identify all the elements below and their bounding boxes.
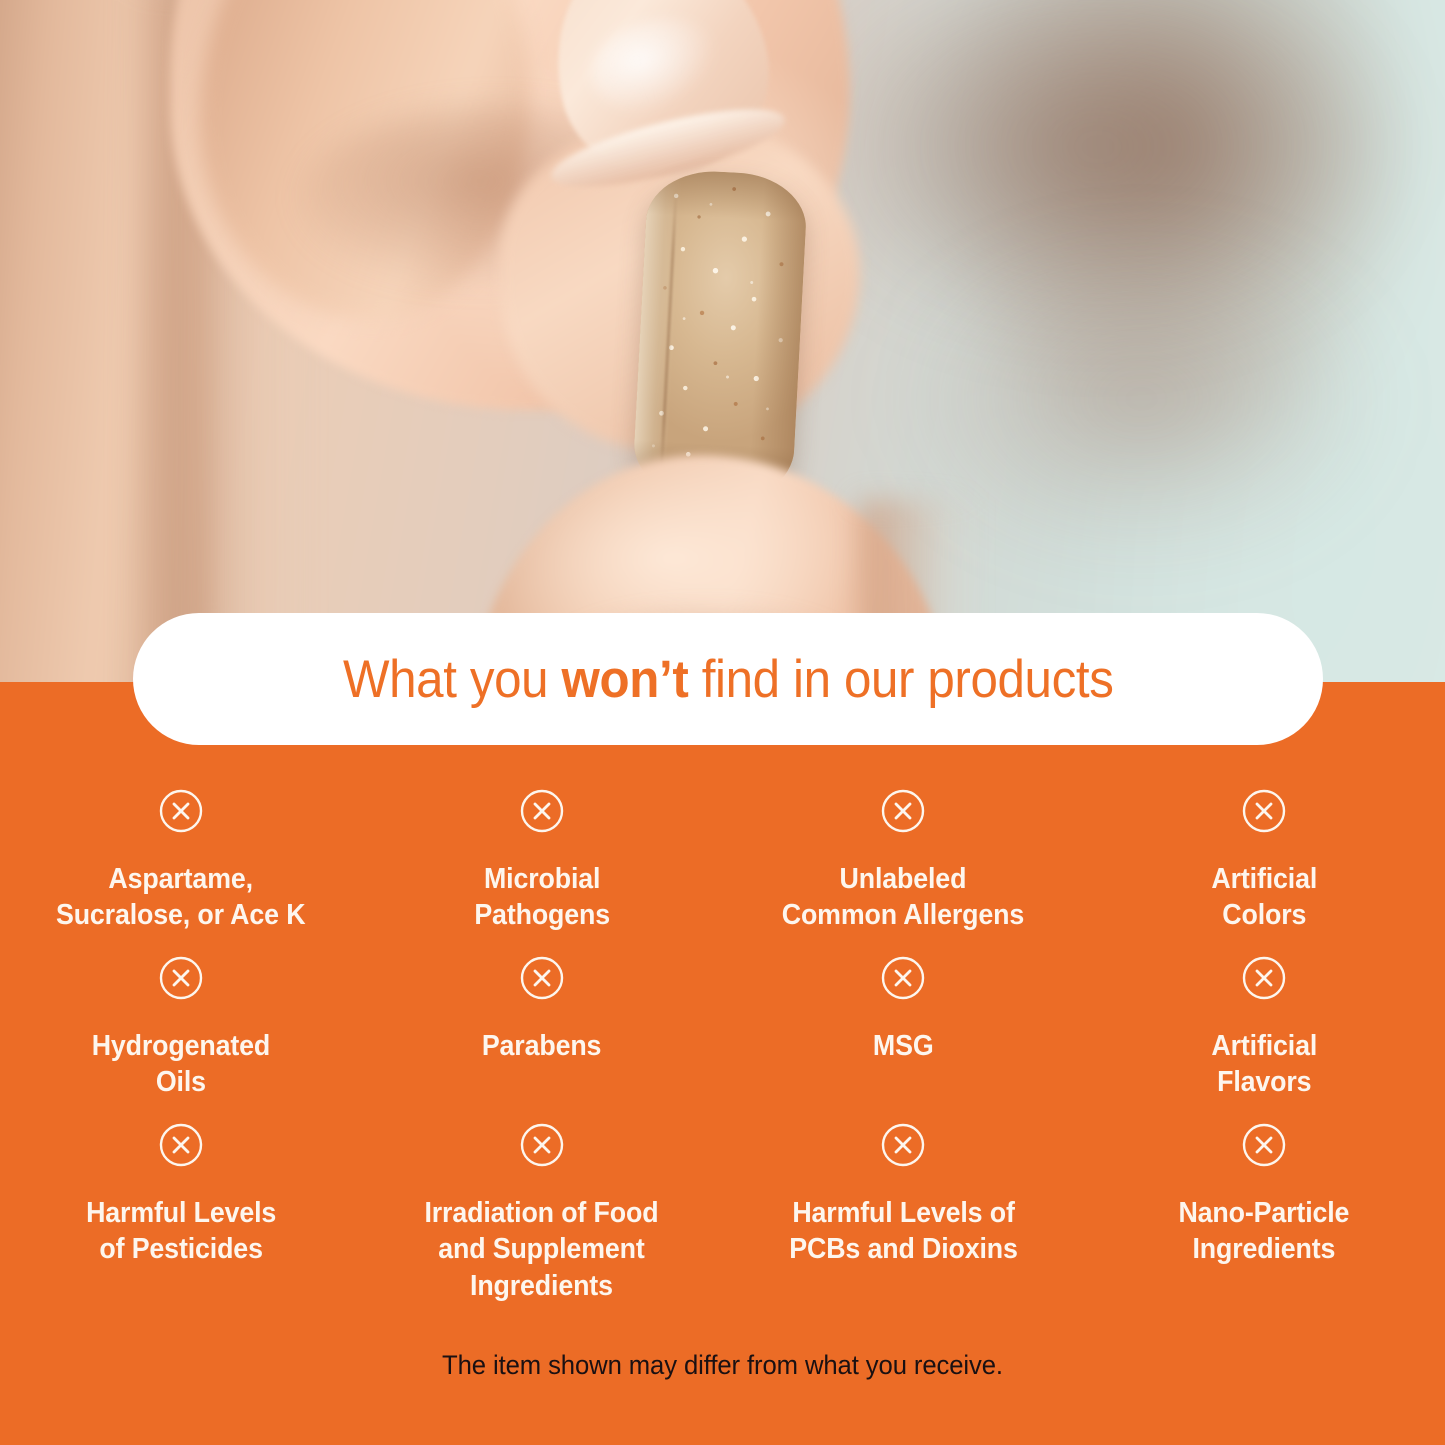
heading-pill: What you won’t find in our products xyxy=(133,613,1323,745)
circle-x-icon xyxy=(518,787,566,835)
exclusion-label-line: Oils xyxy=(156,1066,206,1098)
circle-x-icon xyxy=(879,787,927,835)
exclusion-label: MicrobialPathogens xyxy=(474,861,610,934)
exclusion-label-line: Microbial xyxy=(484,863,600,895)
page-title: What you won’t find in our products xyxy=(343,653,1113,706)
page-title-part2: find in our products xyxy=(688,650,1113,709)
exclusion-label-line: Colors xyxy=(1222,899,1306,931)
exclusion-label: ArtificialFlavors xyxy=(1211,1028,1317,1101)
exclusion-item-nano-particle: Nano-ParticleIngredients xyxy=(1084,1121,1445,1311)
circle-x-icon xyxy=(518,1121,566,1169)
exclusion-item-msg: MSG xyxy=(723,954,1084,1121)
circle-x-icon xyxy=(1240,954,1288,1002)
exclusion-label-line: Nano-Particle xyxy=(1179,1197,1350,1229)
exclusion-label: Harmful Levelsof Pesticides xyxy=(86,1195,276,1268)
exclusion-item-hydrogenated: HydrogenatedOils xyxy=(0,954,361,1121)
product-photo xyxy=(0,0,1445,700)
exclusion-label: Parabens xyxy=(482,1028,601,1064)
exclusion-label-line: and Supplement xyxy=(439,1233,645,1265)
exclusion-item-artif-flavors: ArtificialFlavors xyxy=(1084,954,1445,1121)
exclusion-label: Aspartame,Sucralose, or Ace K xyxy=(56,861,305,934)
exclusion-label-line: Harmful Levels of xyxy=(792,1197,1014,1229)
circle-x-icon xyxy=(157,954,205,1002)
exclusion-label-line: Hydrogenated xyxy=(91,1030,269,1062)
exclusion-label-line: MSG xyxy=(873,1030,934,1062)
disclaimer-footnote: The item shown may differ from what you … xyxy=(36,1350,1409,1381)
circle-x-icon xyxy=(157,1121,205,1169)
circle-x-icon xyxy=(1240,1121,1288,1169)
exclusion-item-parabens: Parabens xyxy=(361,954,722,1121)
exclusion-label-line: of Pesticides xyxy=(99,1233,262,1265)
exclusion-label: ArtificialColors xyxy=(1211,861,1317,934)
exclusion-label-line: Harmful Levels xyxy=(86,1197,276,1229)
exclusion-item-microbial: MicrobialPathogens xyxy=(361,787,722,954)
exclusion-item-unlabeled: UnlabeledCommon Allergens xyxy=(723,787,1084,954)
exclusion-label-line: Artificial xyxy=(1211,863,1317,895)
exclusion-item-pcbs-dioxins: Harmful Levels ofPCBs and Dioxins xyxy=(723,1121,1084,1311)
exclusion-label-line: Artificial xyxy=(1211,1030,1317,1062)
exclusion-label-line: Common Allergens xyxy=(782,899,1024,931)
exclusion-label-line: Sucralose, or Ace K xyxy=(56,899,305,931)
exclusion-label: Nano-ParticleIngredients xyxy=(1179,1195,1350,1268)
circle-x-icon xyxy=(157,787,205,835)
exclusion-item-aspartame: Aspartame,Sucralose, or Ace K xyxy=(0,787,361,954)
circle-x-icon xyxy=(879,954,927,1002)
exclusion-item-artif-colors: ArtificialColors xyxy=(1084,787,1445,954)
exclusion-label-line: Ingredients xyxy=(1193,1233,1336,1265)
exclusion-label: HydrogenatedOils xyxy=(91,1028,269,1101)
circle-x-icon xyxy=(879,1121,927,1169)
exclusion-label-line: Irradiation of Food xyxy=(425,1197,659,1229)
circle-x-icon xyxy=(1240,787,1288,835)
exclusion-label-line: Ingredients xyxy=(470,1270,613,1302)
claims-panel: Aspartame,Sucralose, or Ace KMicrobialPa… xyxy=(0,682,1445,1445)
page-title-part1: What you xyxy=(343,650,562,709)
exclusion-label-line: Aspartame, xyxy=(108,863,253,895)
exclusion-label-line: Unlabeled xyxy=(840,863,967,895)
exclusion-label: Harmful Levels ofPCBs and Dioxins xyxy=(789,1195,1017,1268)
exclusion-label-line: Flavors xyxy=(1217,1066,1311,1098)
exclusion-label: Irradiation of Foodand SupplementIngredi… xyxy=(425,1195,659,1304)
exclusion-label: UnlabeledCommon Allergens xyxy=(782,861,1024,934)
tablet-shadow-top xyxy=(646,168,808,222)
exclusion-label-line: Parabens xyxy=(482,1030,601,1062)
circle-x-icon xyxy=(518,954,566,1002)
exclusion-label: MSG xyxy=(873,1028,934,1064)
exclusion-item-irradiation: Irradiation of Foodand SupplementIngredi… xyxy=(361,1121,722,1311)
exclusions-grid: Aspartame,Sucralose, or Ace KMicrobialPa… xyxy=(0,787,1445,1311)
exclusion-label-line: Pathogens xyxy=(474,899,610,931)
page-title-emphasis: won’t xyxy=(561,650,688,709)
exclusion-label-line: PCBs and Dioxins xyxy=(789,1233,1017,1265)
exclusion-item-pesticides: Harmful Levelsof Pesticides xyxy=(0,1121,361,1311)
